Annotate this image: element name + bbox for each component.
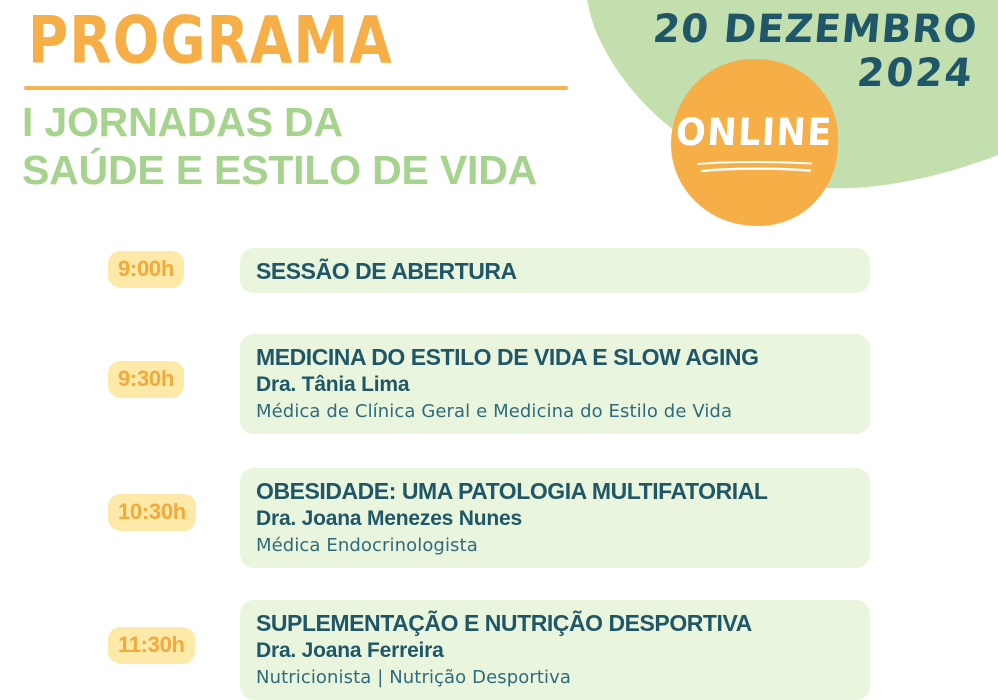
session-speaker-role: Médica de Clínica Geral e Medicina do Es… [256, 401, 854, 424]
session-speaker: Dra. Joana Ferreira [256, 638, 854, 664]
title-divider [24, 86, 568, 90]
page-title: PROGRAMA [28, 8, 393, 73]
session-card: MEDICINA DO ESTILO DE VIDA E SLOW AGING … [240, 334, 870, 434]
underline-strokes-icon [696, 160, 814, 174]
online-badge: ONLINE [671, 59, 838, 226]
session-speaker: Dra. Joana Menezes Nunes [256, 506, 854, 532]
session-card: SESSÃO DE ABERTURA [240, 248, 870, 293]
event-subtitle-line-2: SAÚDE E ESTILO DE VIDA [22, 147, 537, 195]
session-time-badge: 10:30h [108, 494, 196, 531]
session-title: SESSÃO DE ABERTURA [256, 258, 854, 285]
online-badge-label: ONLINE [675, 114, 834, 152]
session-speaker-role: Médica Endocrinologista [256, 535, 854, 558]
session-time-badge: 9:30h [108, 361, 184, 398]
session-speaker-role: Nutricionista | Nutrição Desportiva [256, 667, 854, 690]
session-card: OBESIDADE: UMA PATOLOGIA MULTIFATORIAL D… [240, 468, 870, 568]
event-subtitle-line-1: I JORNADAS DA [22, 99, 537, 147]
session-speaker: Dra. Tânia Lima [256, 372, 854, 398]
event-subtitle: I JORNADAS DA SAÚDE E ESTILO DE VIDA [22, 99, 537, 195]
session-title: MEDICINA DO ESTILO DE VIDA E SLOW AGING [256, 344, 854, 371]
date-line-day-month: 20 DEZEMBRO [651, 8, 979, 52]
session-title: SUPLEMENTAÇÃO E NUTRIÇÃO DESPORTIVA [256, 610, 854, 637]
session-title: OBESIDADE: UMA PATOLOGIA MULTIFATORIAL [256, 478, 854, 505]
session-time-badge: 9:00h [108, 251, 184, 288]
session-card: SUPLEMENTAÇÃO E NUTRIÇÃO DESPORTIVA Dra.… [240, 600, 870, 700]
session-time-badge: 11:30h [108, 627, 195, 664]
program-poster: 20 DEZEMBRO 2024 ONLINE PROGRAMA I JORNA… [0, 0, 998, 700]
